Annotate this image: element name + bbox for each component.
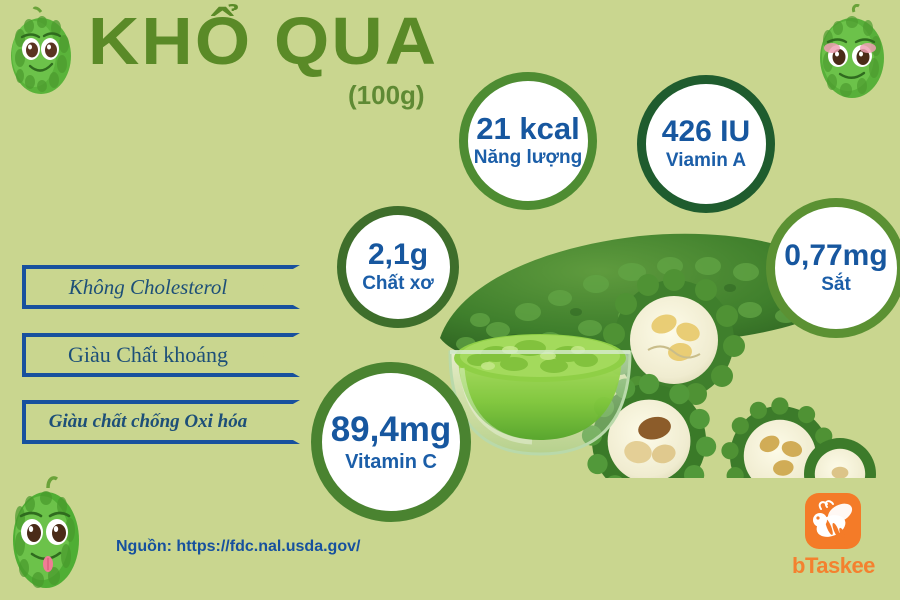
badge-vitamin-c-value: 89,4mg [331, 412, 452, 447]
badge-fiber-value: 2,1g [368, 240, 428, 270]
badge-energy-label: Năng lượng [474, 148, 583, 169]
badge-vitamin-c-label: Vitamin C [345, 451, 437, 473]
mascot-bitter-melon-top-right [812, 4, 892, 100]
serving-size-label: (100g) [348, 80, 425, 111]
badge-iron-label: Sắt [821, 275, 851, 296]
badge-fiber: 2,1g Chất xơ [337, 206, 459, 328]
btaskee-logo: bTaskee [792, 493, 875, 579]
mascot-bitter-melon-bottom-left [4, 474, 88, 592]
ribbon-rich-minerals: Giàu Chất khoáng [22, 333, 300, 377]
badge-energy-value: 21 kcal [476, 113, 579, 144]
ribbon-label: Giàu Chất khoáng [22, 333, 300, 377]
ribbon-label: Không Cholesterol [22, 265, 300, 309]
ribbon-rich-antioxidants: Giàu chất chống Oxi hóa [22, 400, 300, 444]
badge-vitamin-c: 89,4mg Vitamin C [311, 362, 471, 522]
badge-vitamin-a-label: Viamin A [666, 151, 746, 172]
badge-iron: 0,77mg Sắt [766, 198, 900, 338]
badge-energy: 21 kcal Năng lượng [459, 72, 597, 210]
source-citation: Nguồn: https://fdc.nal.usda.gov/ [116, 538, 360, 556]
badge-vitamin-a-value: 426 IU [662, 117, 750, 147]
btaskee-app-icon [805, 493, 861, 549]
badge-fiber-label: Chất xơ [362, 274, 434, 295]
badge-iron-value: 0,77mg [784, 241, 887, 271]
badge-vitamin-a: 426 IU Viamin A [637, 75, 775, 213]
page-title: KHỔ QUA [88, 8, 438, 75]
ribbon-label: Giàu chất chống Oxi hóa [22, 400, 300, 444]
mascot-bitter-melon-top-left [4, 6, 78, 94]
btaskee-wordmark: bTaskee [792, 553, 875, 579]
infographic-canvas: KHỔ QUA (100g) [0, 0, 900, 600]
bee-icon [805, 493, 861, 549]
ribbon-no-cholesterol: Không Cholesterol [22, 265, 300, 309]
